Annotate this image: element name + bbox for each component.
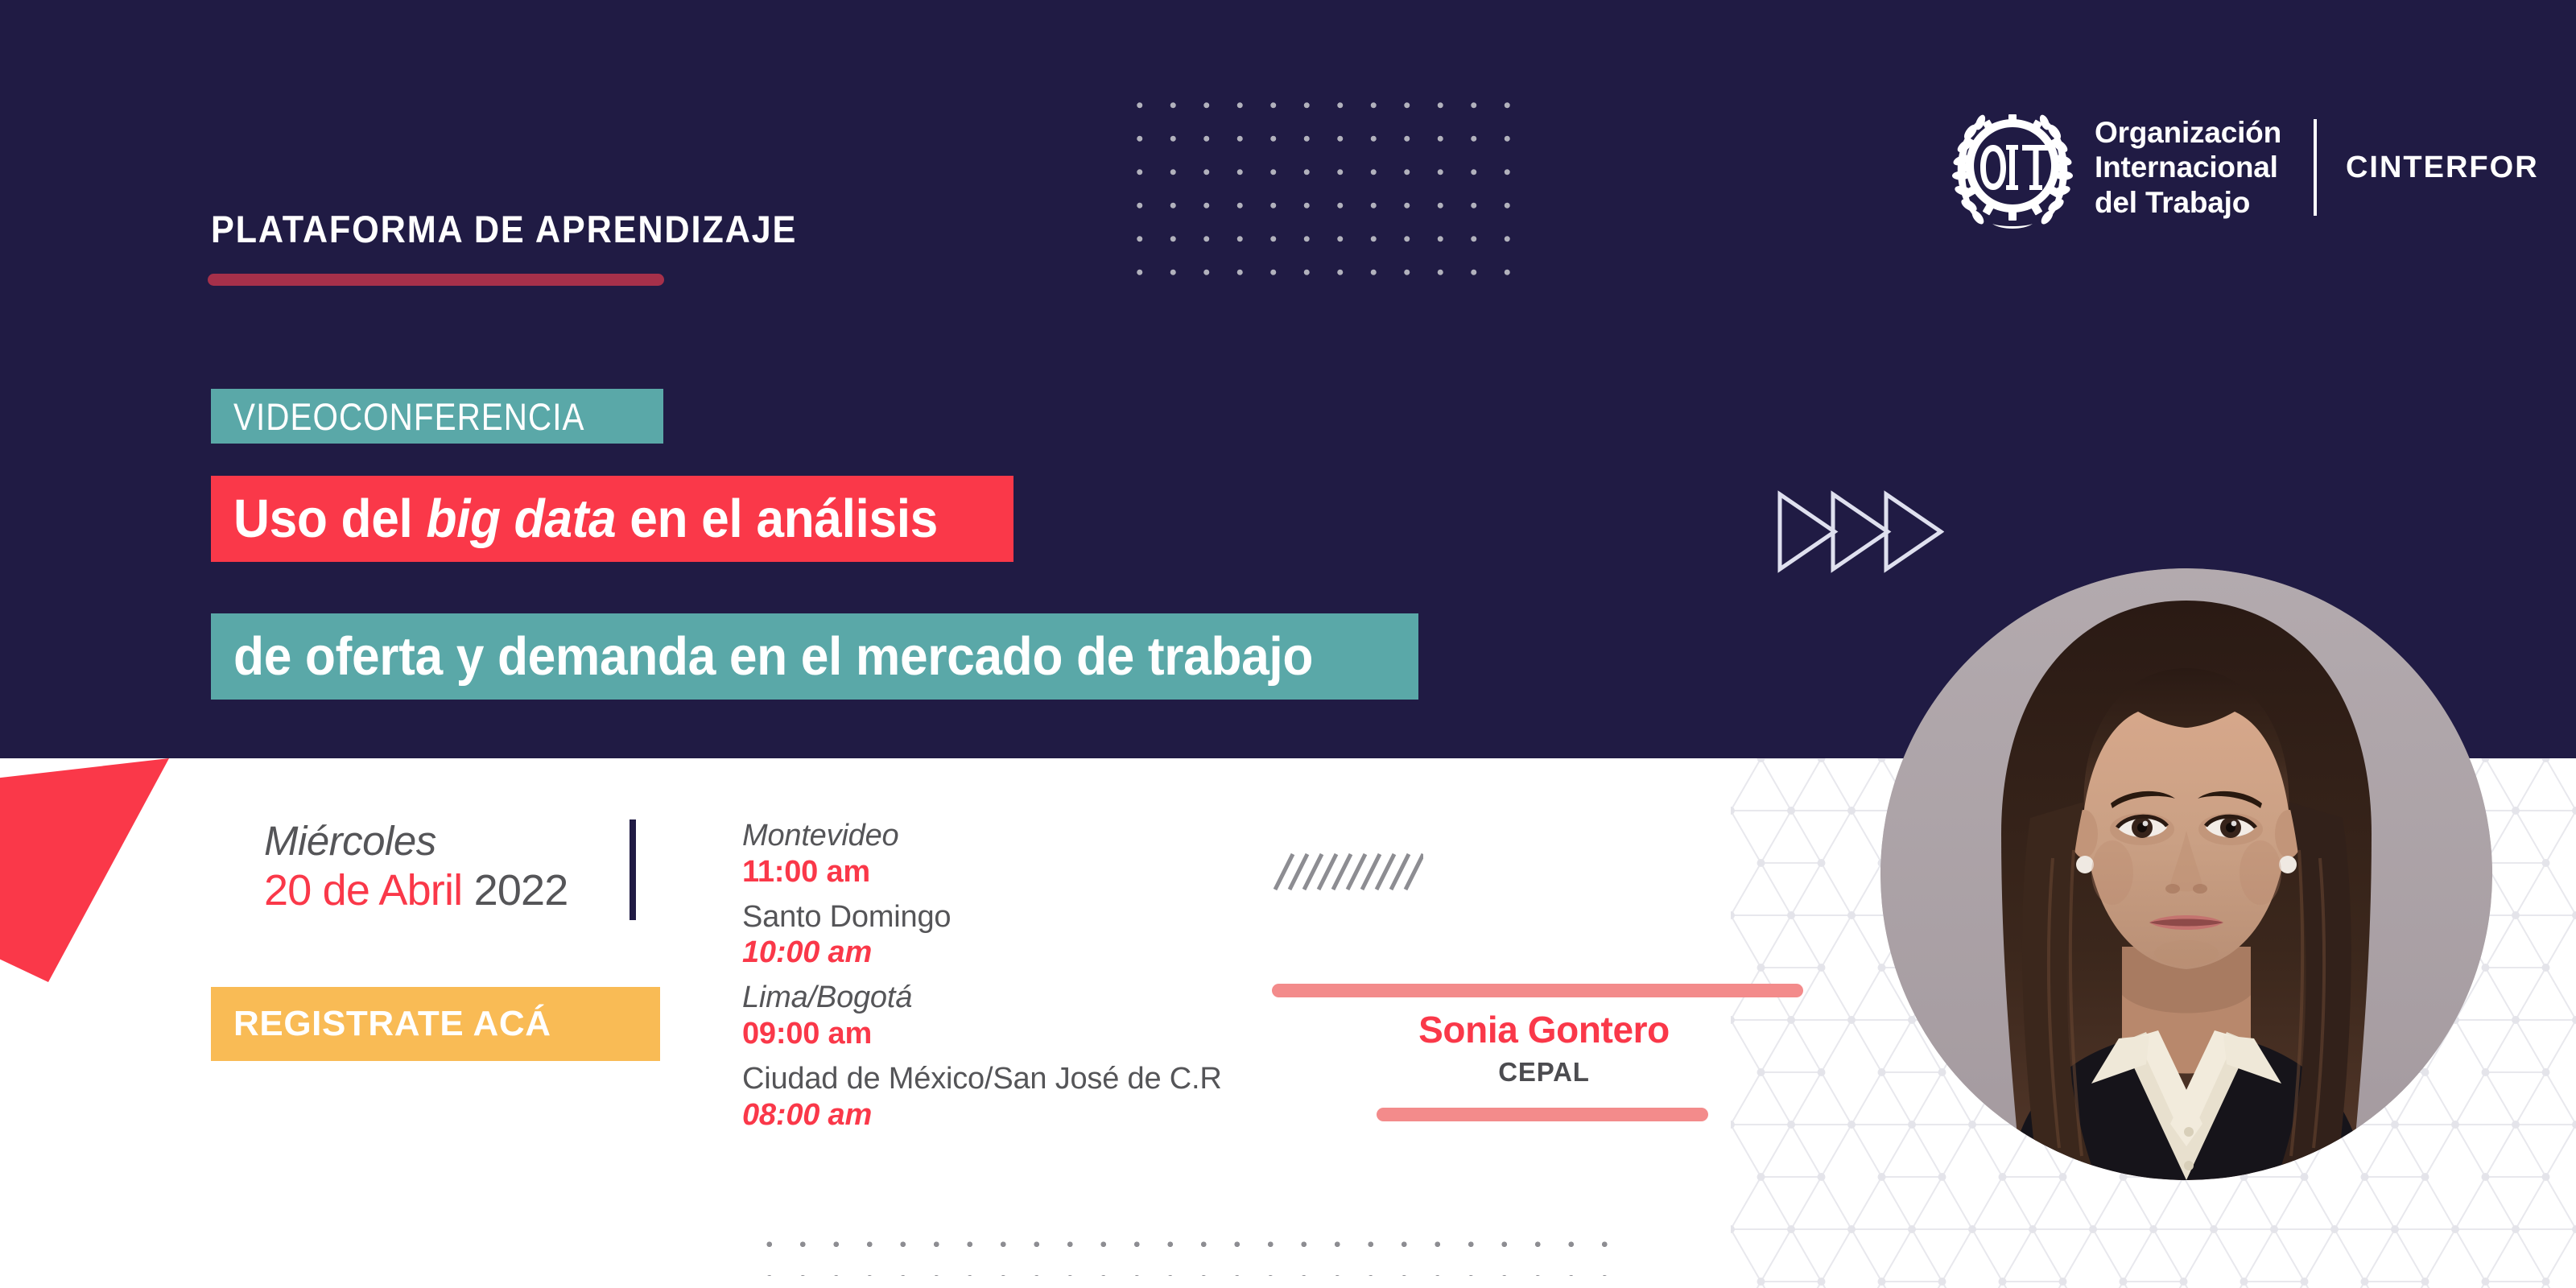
- schedule-time: 10:00 am: [742, 936, 1222, 970]
- schedule-city: Lima/Bogotá: [742, 981, 1222, 1015]
- event-weekday: Miércoles: [264, 819, 568, 863]
- register-button[interactable]: REGISTRATE ACÁ: [211, 987, 660, 1061]
- list-item: Santo Domingo 10:00 am: [742, 901, 1222, 971]
- schedule-city: Santo Domingo: [742, 901, 1222, 935]
- org-line-3: del Trabajo: [2095, 185, 2281, 221]
- schedule-time: 09:00 am: [742, 1018, 1222, 1051]
- red-triangle-arrow-icon: [0, 716, 193, 982]
- diagonal-hatch-icon: [1270, 849, 1423, 893]
- title-part-pre: Uso del: [233, 489, 426, 549]
- cinterfor-label: CINTERFOR: [2346, 151, 2539, 185]
- schedule-time: 11:00 am: [742, 856, 1222, 890]
- event-year: 2022: [474, 866, 568, 914]
- videoconference-tag-label: VIDEOCONFERENCIA: [233, 394, 584, 439]
- list-item: Lima/Bogotá 09:00 am: [742, 981, 1222, 1051]
- bottom-dot-pattern-icon: [753, 1228, 1610, 1276]
- event-date-line: 20 de Abril 2022: [264, 868, 568, 914]
- logo-divider: [2314, 119, 2317, 216]
- speaker-rule-top: [1272, 984, 1803, 997]
- title-part-emphasis: big data: [426, 489, 616, 549]
- org-line-1: Organización: [2095, 115, 2281, 151]
- kicker-underline: [208, 274, 664, 286]
- oit-cinterfor-logo: Organización Internacional del Trabajo C…: [1948, 103, 2539, 232]
- title-line-2: de oferta y demanda en el mercado de tra…: [211, 613, 1418, 700]
- title-line-1: Uso del big data en el análisis: [211, 476, 1013, 562]
- schedule-time: 08:00 am: [742, 1099, 1222, 1133]
- list-item: Montevideo 11:00 am: [742, 819, 1222, 890]
- register-button-label: REGISTRATE ACÁ: [211, 1004, 551, 1044]
- title-line-2-text: de oferta y demanda en el mercado de tra…: [233, 625, 1313, 687]
- event-promo-banner: Organización Internacional del Trabajo C…: [0, 0, 2576, 1288]
- event-date: Miércoles 20 de Abril 2022: [264, 819, 568, 914]
- event-day-month: 20 de Abril: [264, 866, 462, 914]
- speaker-rule-bottom: [1377, 1108, 1708, 1121]
- speaker-organization: CEPAL: [1383, 1057, 1705, 1088]
- dot-grid-icon: [1123, 89, 1525, 290]
- videoconference-tag: VIDEOCONFERENCIA: [211, 389, 663, 444]
- schedule-city: Montevideo: [742, 819, 1222, 853]
- org-line-2: Internacional: [2095, 150, 2281, 185]
- schedule-list: Montevideo 11:00 am Santo Domingo 10:00 …: [742, 819, 1222, 1143]
- organization-name: Organización Internacional del Trabajo: [2095, 115, 2281, 221]
- date-divider: [630, 819, 636, 920]
- avatar: [1880, 568, 2492, 1180]
- oit-emblem-icon: [1948, 103, 2077, 232]
- title-line-1-text: Uso del big data en el análisis: [233, 488, 938, 550]
- list-item: Ciudad de México/San José de C.R 08:00 a…: [742, 1063, 1222, 1133]
- triple-chevron-right-icon: [1775, 489, 1944, 574]
- schedule-city: Ciudad de México/San José de C.R: [742, 1063, 1222, 1096]
- platform-kicker: PLATAFORMA DE APRENDIZAJE: [211, 207, 797, 251]
- title-part-post: en el análisis: [616, 489, 938, 549]
- speaker-name: Sonia Gontero: [1383, 1008, 1705, 1051]
